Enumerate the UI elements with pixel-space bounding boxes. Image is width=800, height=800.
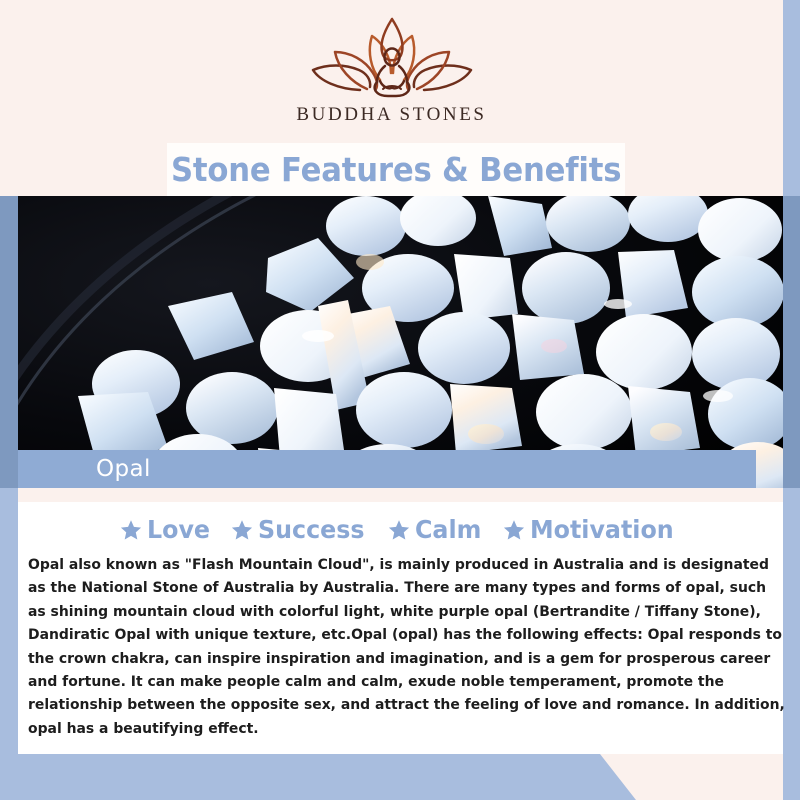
content-panel: Love Success Calm bbox=[18, 502, 783, 754]
stone-description: Opal also known as "Flash Mountain Cloud… bbox=[28, 553, 788, 740]
star-icon bbox=[388, 519, 410, 541]
stone-name: Opal bbox=[96, 456, 151, 482]
benefit-item-success: Success bbox=[231, 515, 370, 544]
stone-name-bar: Opal bbox=[18, 450, 756, 488]
content-top-strip bbox=[18, 488, 783, 502]
star-icon bbox=[120, 519, 142, 541]
star-icon bbox=[503, 519, 525, 541]
infographic-page: BUDDHA STONES Stone Features & Benefits bbox=[0, 0, 800, 800]
benefit-label: Motivation bbox=[530, 515, 674, 544]
bottom-accent-band bbox=[0, 754, 636, 800]
right-accent-band-dark bbox=[783, 196, 800, 488]
benefit-item-motivation: Motivation bbox=[503, 515, 681, 544]
star-icon bbox=[231, 519, 253, 541]
lotus-meditation-icon bbox=[307, 14, 477, 102]
benefit-label: Love bbox=[147, 515, 210, 544]
benefit-item-calm: Calm bbox=[388, 515, 485, 544]
benefits-row: Love Success Calm bbox=[18, 502, 783, 544]
page-title: Stone Features & Benefits bbox=[171, 150, 621, 189]
opal-stones-photo bbox=[18, 196, 783, 488]
benefit-item-love: Love bbox=[120, 515, 213, 544]
brand-name: BUDDHA STONES bbox=[296, 104, 486, 126]
brand-logo: BUDDHA STONES bbox=[0, 14, 783, 126]
benefit-label: Calm bbox=[415, 515, 481, 544]
left-accent-band-dark bbox=[0, 196, 18, 488]
title-banner: Stone Features & Benefits bbox=[167, 143, 625, 196]
benefit-label: Success bbox=[258, 515, 365, 544]
